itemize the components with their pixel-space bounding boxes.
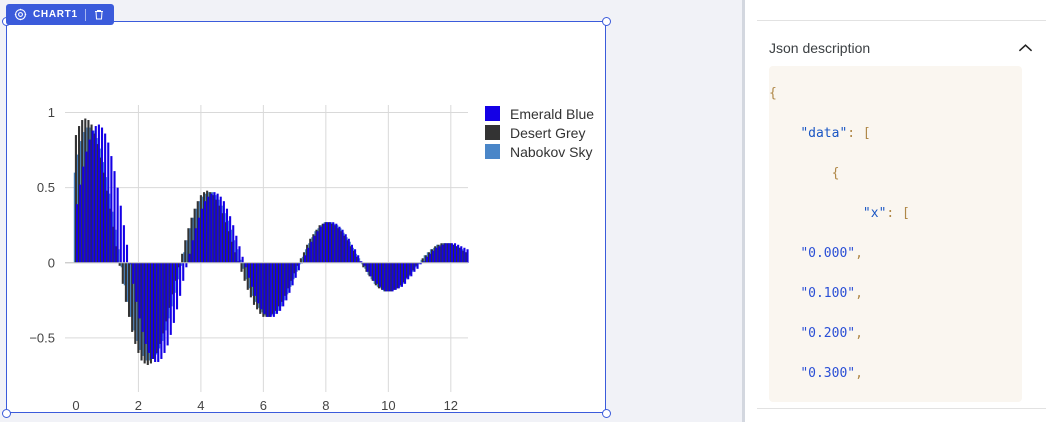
legend-swatch: [485, 144, 500, 159]
bar: [323, 224, 325, 263]
bar: [151, 263, 153, 359]
bar: [145, 263, 147, 344]
bar: [229, 216, 231, 263]
bar: [184, 240, 186, 263]
bar: [348, 239, 350, 263]
bar: [120, 206, 122, 263]
x-tick-label: 2: [135, 398, 142, 411]
y-tick-label: 1: [48, 105, 55, 120]
bar: [342, 230, 344, 263]
bar: [313, 236, 315, 263]
editor-canvas[interactable]: −0.500.51024681012 Emerald BlueDesert Gr…: [0, 0, 742, 422]
legend-item[interactable]: Nabokov Sky: [485, 142, 594, 161]
bar: [454, 243, 456, 263]
chart-toolbar[interactable]: CHART1: [6, 4, 114, 25]
bar: [448, 243, 450, 263]
bar: [317, 231, 319, 263]
x-tick-label: 12: [444, 398, 458, 411]
gear-icon[interactable]: [13, 7, 28, 22]
bar: [282, 263, 284, 307]
bar: [382, 263, 384, 290]
bar: [410, 263, 412, 277]
legend-swatch: [485, 106, 500, 121]
bar: [181, 254, 183, 263]
bar: [451, 243, 453, 263]
bar: [307, 248, 309, 263]
bar: [292, 263, 294, 286]
chart-name-label: CHART1: [33, 10, 78, 20]
chart-legend: Emerald BlueDesert GreyNabokov Sky: [485, 104, 594, 161]
bar: [113, 171, 115, 263]
bar: [98, 125, 100, 263]
bar: [435, 248, 437, 263]
bar: [122, 263, 124, 284]
bar: [242, 257, 244, 263]
bar: [160, 263, 162, 359]
bar: [232, 225, 234, 263]
bar: [176, 263, 178, 310]
bar: [217, 194, 219, 263]
bar: [320, 227, 322, 263]
json-line: "x": [: [769, 194, 1022, 234]
bar: [128, 263, 130, 317]
bar: [267, 263, 269, 317]
bar: [432, 251, 434, 263]
bar: [125, 263, 127, 302]
bar: [310, 242, 312, 263]
bar: [138, 263, 140, 319]
bar: [142, 263, 144, 332]
bar: [182, 263, 184, 281]
bar: [188, 254, 190, 263]
bar: [240, 263, 242, 272]
bar: [354, 249, 356, 263]
x-tick-label: 10: [381, 398, 395, 411]
bar: [192, 240, 194, 263]
bar: [398, 263, 400, 289]
bar: [385, 263, 387, 292]
resize-handle-bottom-left[interactable]: [2, 409, 11, 418]
json-line: {: [769, 154, 1022, 194]
toolbar-divider: [85, 9, 86, 21]
panel-bottom-divider: [757, 408, 1046, 409]
bar: [329, 222, 331, 263]
bar: [195, 228, 197, 263]
bar: [135, 263, 137, 302]
bar: [148, 263, 150, 353]
bar: [288, 263, 290, 293]
bar: [126, 245, 128, 263]
bar: [110, 156, 112, 263]
bar: [235, 236, 237, 263]
json-line: "data": [: [769, 114, 1022, 154]
bar: [173, 263, 175, 323]
bar: [213, 192, 215, 263]
bar: [326, 222, 328, 263]
legend-label: Emerald Blue: [510, 107, 594, 121]
bar: [117, 188, 119, 263]
json-line: "0.100",: [769, 274, 1022, 314]
bar: [295, 263, 297, 278]
bar: [223, 201, 225, 263]
legend-label: Nabokov Sky: [510, 145, 592, 159]
bar: [185, 263, 187, 268]
resize-handle-top-right[interactable]: [602, 17, 611, 26]
resize-handle-bottom-right[interactable]: [602, 409, 611, 418]
bar: [279, 263, 281, 311]
bar: [170, 263, 172, 335]
right-panel: Json description { "data": [ { "x": [ "0…: [745, 0, 1046, 422]
panel-top-divider: [757, 20, 1046, 21]
trash-icon[interactable]: [92, 7, 107, 22]
bar: [395, 263, 397, 290]
legend-label: Desert Grey: [510, 126, 585, 140]
bar: [251, 263, 253, 287]
bar: [85, 152, 87, 263]
bar: [357, 255, 359, 263]
bar: [413, 263, 415, 272]
bar: [210, 194, 212, 263]
bar: [285, 263, 287, 301]
legend-item[interactable]: Emerald Blue: [485, 104, 594, 123]
bar: [104, 134, 106, 263]
bar: [101, 128, 103, 263]
bar: [92, 131, 94, 263]
y-tick-label: −0.5: [29, 330, 55, 345]
x-tick-label: 0: [72, 398, 79, 411]
json-line: "0.200",: [769, 314, 1022, 354]
bar: [157, 263, 159, 362]
bar: [417, 263, 419, 269]
json-line: "0.300",: [769, 354, 1022, 394]
bar: [338, 227, 340, 263]
bar: [154, 263, 156, 362]
bar: [429, 254, 431, 263]
bar: [132, 263, 134, 284]
legend-swatch: [485, 125, 500, 140]
bar: [438, 246, 440, 263]
bar: [457, 245, 459, 263]
bar: [82, 167, 84, 263]
bar: [179, 263, 181, 296]
bar: [220, 197, 222, 263]
bar: [107, 143, 109, 263]
bar: [123, 225, 125, 263]
bar: [392, 263, 394, 292]
bar: [270, 263, 272, 317]
bar: [88, 140, 90, 263]
json-description-code[interactable]: { "data": [ { "x": [ "0.000", "0.100", "…: [769, 66, 1022, 402]
bar: [245, 263, 247, 268]
bar: [345, 234, 347, 263]
bar: [201, 209, 203, 263]
legend-item[interactable]: Desert Grey: [485, 123, 594, 142]
bar: [463, 248, 465, 263]
bar: [466, 249, 468, 263]
bar: [298, 263, 300, 271]
bar: [426, 257, 428, 263]
bar: [445, 243, 447, 263]
chart-widget[interactable]: −0.500.51024681012 Emerald BlueDesert Gr…: [6, 21, 606, 413]
bar: [260, 263, 262, 310]
bar: [248, 263, 250, 278]
json-description-title: Json description: [769, 40, 870, 56]
x-tick-label: 4: [197, 398, 204, 411]
json-line: "0.000",: [769, 234, 1022, 274]
bar: [76, 204, 78, 263]
bar: [404, 263, 406, 284]
bar: [273, 263, 275, 317]
y-tick-label: 0: [48, 255, 55, 270]
bar: [351, 245, 353, 263]
bar: [388, 263, 390, 292]
bar: [370, 263, 372, 277]
bar: [163, 263, 165, 353]
bar: [167, 263, 169, 346]
bar: [95, 126, 97, 263]
bar: [254, 263, 256, 296]
bar: [300, 258, 302, 263]
bar: [79, 185, 81, 263]
bar: [238, 246, 240, 263]
y-tick-label: 0.5: [37, 180, 55, 195]
x-tick-label: 6: [260, 398, 267, 411]
bar: [335, 224, 337, 263]
bar: [198, 218, 200, 263]
bar: [207, 197, 209, 263]
json-line: "0.400",: [769, 394, 1022, 402]
bar: [401, 263, 403, 287]
bar: [332, 222, 334, 263]
bar: [367, 263, 369, 272]
bar: [226, 209, 228, 263]
bar: [441, 245, 443, 263]
bar: [276, 263, 278, 314]
bar: [304, 255, 306, 263]
chart-svg: −0.500.51024681012: [7, 22, 604, 411]
chart-plot-area: −0.500.51024681012: [7, 22, 604, 411]
x-tick-label: 8: [322, 398, 329, 411]
bar: [460, 246, 462, 263]
json-description-header[interactable]: Json description: [769, 36, 1034, 60]
bar: [376, 263, 378, 284]
json-line: {: [769, 74, 1022, 114]
bar: [257, 263, 259, 304]
bar: [204, 201, 206, 263]
chevron-up-icon[interactable]: [1016, 39, 1034, 57]
bar: [407, 263, 409, 280]
bar: [379, 263, 381, 287]
bar: [373, 263, 375, 281]
bar: [263, 263, 265, 314]
